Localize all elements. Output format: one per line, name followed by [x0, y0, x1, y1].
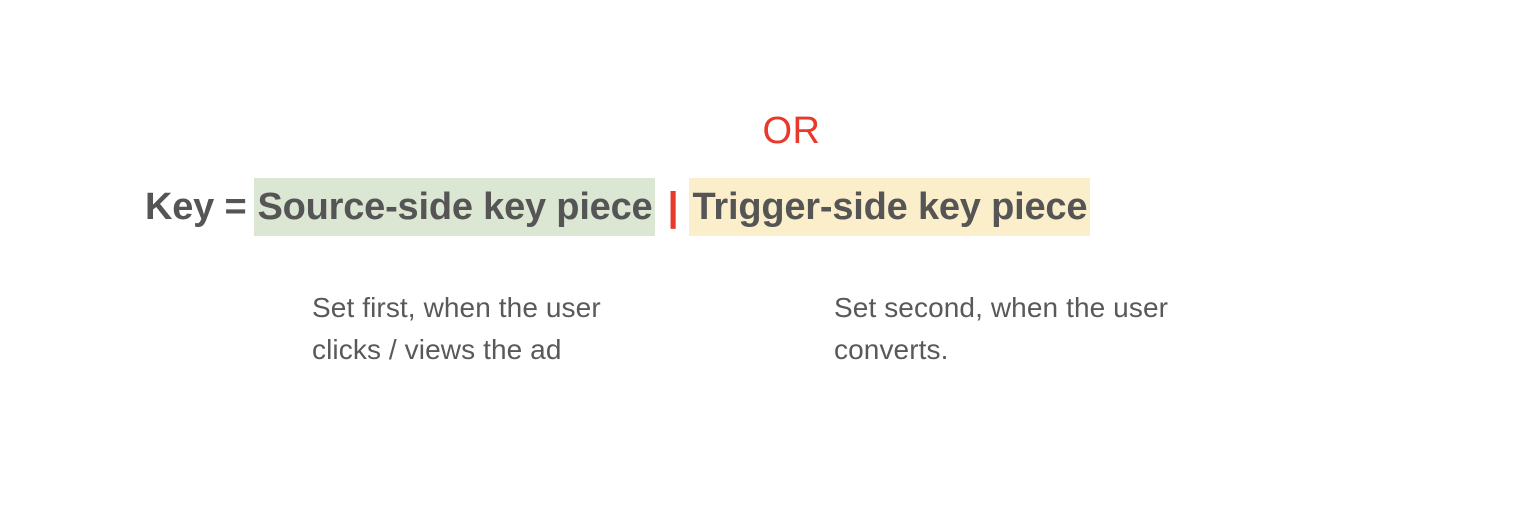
key-equation-row: Key = Source-side key piece | Trigger-si… [145, 176, 1090, 238]
source-description-line-2: clicks / views the ad [312, 329, 712, 371]
source-side-description: Set first, when the user clicks / views … [312, 287, 712, 371]
source-side-key-piece: Source-side key piece [254, 178, 655, 236]
trigger-side-description: Set second, when the user converts. [834, 287, 1294, 371]
trigger-description-line-2: converts. [834, 329, 1294, 371]
source-description-line-1: Set first, when the user [312, 287, 712, 329]
or-alternation-label: OR [0, 108, 1514, 154]
diagram-canvas: OR Key = Source-side key piece | Trigger… [0, 0, 1514, 522]
key-piece-separator: | [655, 178, 689, 236]
key-equation-prefix: Key = [145, 177, 254, 237]
trigger-description-line-1: Set second, when the user [834, 287, 1294, 329]
trigger-side-key-piece: Trigger-side key piece [689, 178, 1090, 236]
